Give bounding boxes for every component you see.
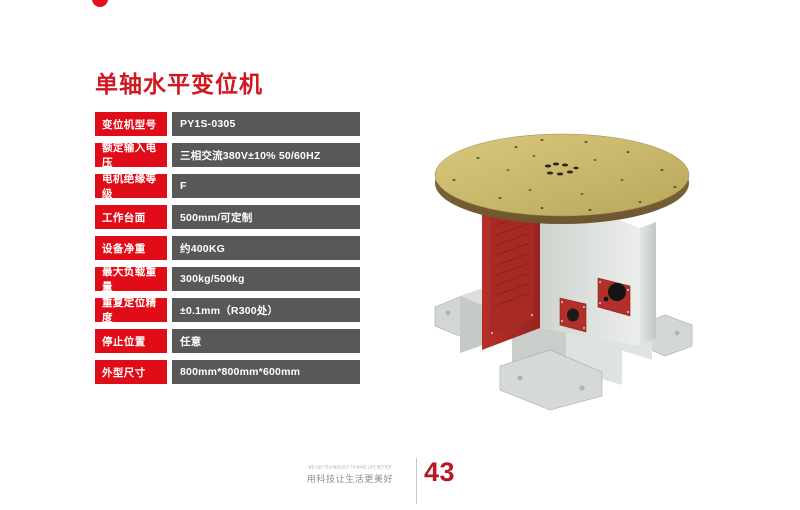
table-row: 外型尺寸 800mm*800mm*600mm bbox=[95, 360, 360, 384]
page-footer: WE USE TECHNOLOGY TO MAKE LIFE BETTER 用科… bbox=[0, 455, 800, 510]
table-row: 电机绝缘等级 F bbox=[95, 174, 360, 198]
page-number: 43 bbox=[424, 457, 455, 488]
spec-label: 外型尺寸 bbox=[95, 360, 167, 384]
spec-label: 额定输入电压 bbox=[95, 143, 167, 167]
table-row: 停止位置 任意 bbox=[95, 329, 360, 353]
page-title: 单轴水平变位机 bbox=[95, 65, 263, 99]
spec-value: 约400KG bbox=[172, 236, 360, 260]
table-row: 最大负载重量 300kg/500kg bbox=[95, 267, 360, 291]
spec-value: F bbox=[172, 174, 360, 198]
spec-value: 三相交流380V±10% 50/60HZ bbox=[172, 143, 360, 167]
table-row: 额定输入电压 三相交流380V±10% 50/60HZ bbox=[95, 143, 360, 167]
spec-label: 停止位置 bbox=[95, 329, 167, 353]
spec-label: 重复定位精度 bbox=[95, 298, 167, 322]
spec-label: 最大负载重量 bbox=[95, 267, 167, 291]
spec-table: 变位机型号 PY1S-0305 额定输入电压 三相交流380V±10% 50/6… bbox=[95, 112, 360, 391]
table-row: 重复定位精度 ±0.1mm（R300处） bbox=[95, 298, 360, 322]
spec-label: 工作台面 bbox=[95, 205, 167, 229]
table-row: 变位机型号 PY1S-0305 bbox=[95, 112, 360, 136]
footer-micro-text: WE USE TECHNOLOGY TO MAKE LIFE BETTER bbox=[296, 464, 404, 470]
product-photo-single-axis-positioner bbox=[390, 110, 735, 410]
footer-slogan: 用科技让生活更美好 bbox=[296, 472, 404, 485]
spec-value: 300kg/500kg bbox=[172, 267, 360, 291]
spec-label: 电机绝缘等级 bbox=[95, 174, 167, 198]
spec-value: 任意 bbox=[172, 329, 360, 353]
spec-value: ±0.1mm（R300处） bbox=[172, 298, 360, 322]
table-row: 工作台面 500mm/可定制 bbox=[95, 205, 360, 229]
spec-value: 500mm/可定制 bbox=[172, 205, 360, 229]
product-spec-page: 单轴水平变位机 变位机型号 PY1S-0305 额定输入电压 三相交流380V±… bbox=[0, 0, 800, 510]
spec-label: 变位机型号 bbox=[95, 112, 167, 136]
rotary-table-top bbox=[435, 134, 689, 224]
spec-value: 800mm*800mm*600mm bbox=[172, 360, 360, 384]
footer-divider bbox=[416, 458, 417, 504]
table-row: 设备净重 约400KG bbox=[95, 236, 360, 260]
top-red-dot-mark bbox=[92, 0, 108, 7]
spec-label: 设备净重 bbox=[95, 236, 167, 260]
spec-value: PY1S-0305 bbox=[172, 112, 360, 136]
